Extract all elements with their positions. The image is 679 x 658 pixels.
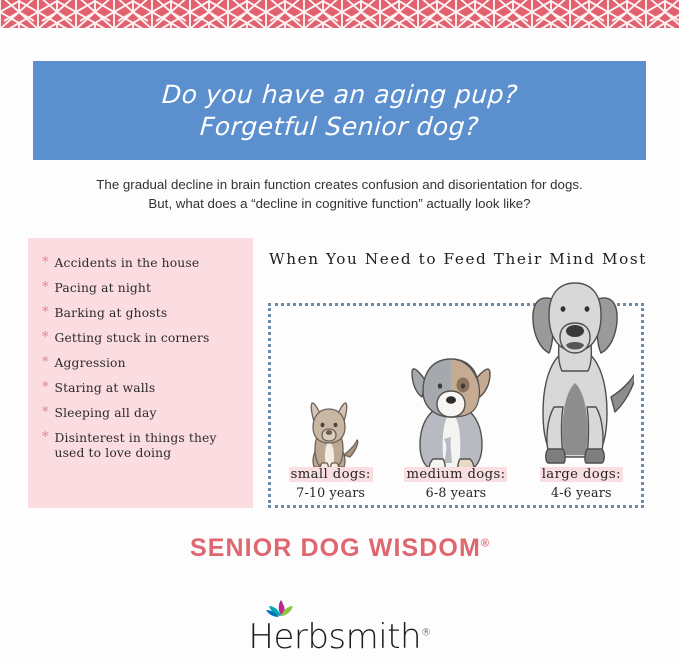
- asterisk-bullet-icon: *: [42, 431, 49, 446]
- dog-label-medium: medium dogs: 6-8 years: [393, 463, 518, 500]
- intro-line-2: But, what does a “decline in cognitive f…: [33, 195, 646, 214]
- asterisk-bullet-icon: *: [42, 406, 49, 421]
- dog-label-small: small dogs: 7-10 years: [268, 463, 393, 500]
- list-item: * Staring at walls: [42, 381, 241, 396]
- asterisk-bullet-icon: *: [42, 306, 49, 321]
- list-item: * Accidents in the house: [42, 256, 241, 271]
- registered-trademark-icon: ®: [481, 538, 489, 550]
- intro-paragraph: The gradual decline in brain function cr…: [33, 176, 646, 214]
- list-item-label: Aggression: [55, 356, 126, 371]
- headline-line-1: Do you have an aging pup?: [160, 79, 518, 111]
- dog-label-years: 6-8 years: [393, 485, 518, 500]
- list-item: * Pacing at night: [42, 281, 241, 296]
- intro-line-1: The gradual decline in brain function cr…: [33, 176, 646, 195]
- list-item: * Barking at ghosts: [42, 306, 241, 321]
- dog-label-name: medium dogs:: [404, 467, 507, 482]
- brand-name-text: Herbsmith: [248, 617, 421, 657]
- dog-label-years: 7-10 years: [268, 485, 393, 500]
- chart-heading: When You Need to Feed Their Mind Most: [268, 250, 648, 268]
- headline-banner: Do you have an aging pup? Forgetful Seni…: [33, 61, 646, 160]
- brand-logo: Herbsmith®: [0, 598, 679, 654]
- product-wordmark-text: SENIOR DOG WISDOM: [190, 534, 481, 562]
- asterisk-bullet-icon: *: [42, 281, 49, 296]
- dog-label-years: 4-6 years: [519, 485, 644, 500]
- list-item: * Disinterest in things they used to lov…: [42, 431, 241, 462]
- decorative-pattern-band: [0, 0, 679, 28]
- brand-name: Herbsmith®: [248, 620, 430, 654]
- asanoha-geometric-pattern-icon: [0, 0, 679, 28]
- list-item: * Aggression: [42, 356, 241, 371]
- list-item-label: Getting stuck in corners: [55, 331, 210, 346]
- list-item-label: Barking at ghosts: [55, 306, 168, 321]
- dog-label-name: small dogs:: [289, 467, 373, 482]
- asterisk-bullet-icon: *: [42, 256, 49, 271]
- list-item-label: Staring at walls: [55, 381, 156, 396]
- asterisk-bullet-icon: *: [42, 381, 49, 396]
- list-item: * Getting stuck in corners: [42, 331, 241, 346]
- dog-label-large: large dogs: 4-6 years: [519, 463, 644, 500]
- registered-trademark-icon: ®: [421, 628, 431, 639]
- list-item-label: Accidents in the house: [55, 256, 200, 271]
- product-wordmark: SENIOR DOG WISDOM®: [0, 534, 679, 563]
- list-item-label: Disinterest in things they used to love …: [55, 431, 242, 462]
- headline-line-2: Forgetful Senior dog?: [199, 111, 480, 143]
- dog-label-name: large dogs:: [540, 467, 623, 482]
- symptom-list-box: * Accidents in the house * Pacing at nig…: [28, 238, 253, 508]
- dog-size-labels: small dogs: 7-10 years medium dogs: 6-8 …: [268, 463, 644, 500]
- list-item-label: Pacing at night: [55, 281, 152, 296]
- asterisk-bullet-icon: *: [42, 356, 49, 371]
- asterisk-bullet-icon: *: [42, 331, 49, 346]
- list-item-label: Sleeping all day: [55, 406, 157, 421]
- list-item: * Sleeping all day: [42, 406, 241, 421]
